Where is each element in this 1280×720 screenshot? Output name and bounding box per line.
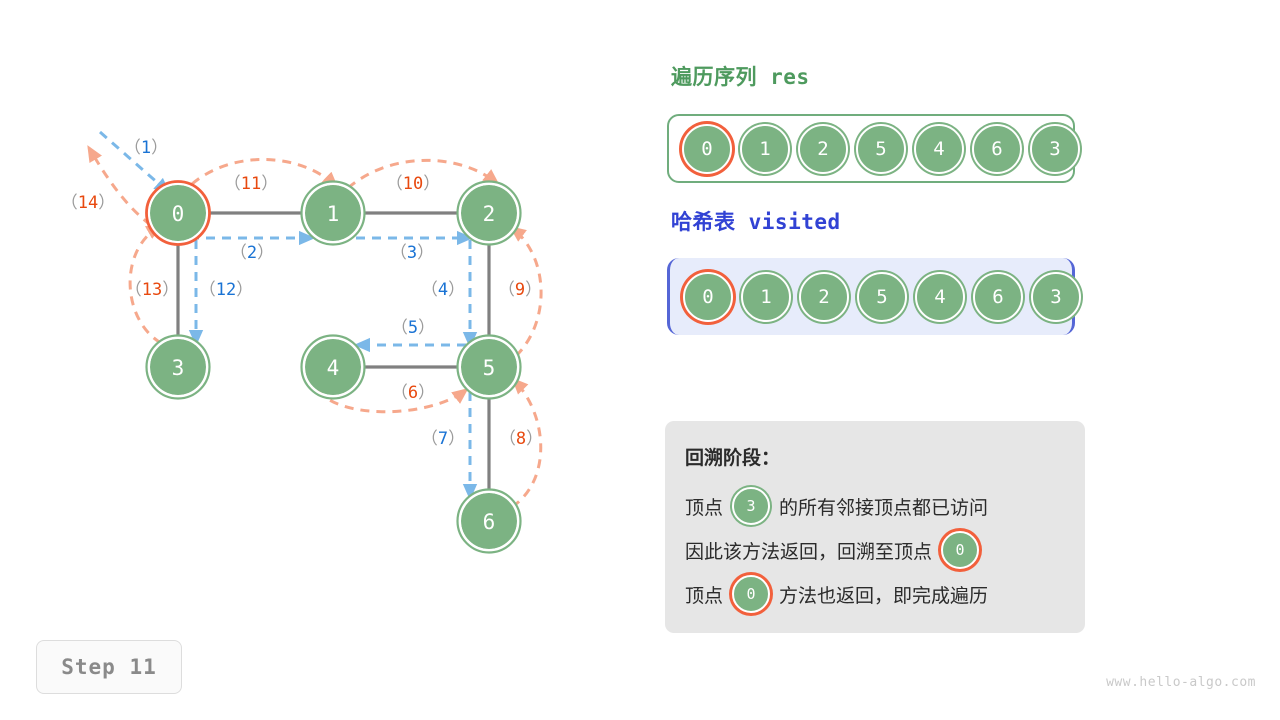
info-chip-vertex-0-b: 0: [732, 575, 770, 613]
visited-item-label: 1: [760, 286, 771, 308]
res-item-label: 1: [759, 138, 770, 160]
res-section-title: 遍历序列 res: [671, 61, 810, 91]
step-label-9: （9）: [498, 280, 542, 300]
info-line-3: 顶点 0 方法也返回，即完成遍历: [685, 572, 1085, 616]
right-panel: 遍历序列 res 0 1 2 5 4 6 3 哈希表 visited 0 1 2…: [665, 0, 1280, 720]
info-line-1-text-a: 顶点: [685, 493, 723, 520]
graph-node-5[interactable]: 5: [458, 336, 521, 399]
visited-item[interactable]: 1: [741, 272, 791, 322]
visited-item[interactable]: 4: [915, 272, 965, 322]
step-label-12: （12）: [199, 280, 253, 300]
step-label-14: （14）: [61, 193, 115, 213]
step-label-11: （11）: [224, 174, 278, 194]
res-item-label: 2: [817, 138, 828, 160]
graph-node-0-label: 0: [172, 202, 185, 226]
info-line-2: 因此该方法返回，回溯至顶点 0: [685, 528, 1085, 572]
info-chip-vertex-3-label: 3: [747, 497, 756, 515]
info-line-1-text-b: 的所有邻接顶点都已访问: [779, 493, 988, 520]
graph-node-1-label: 1: [327, 202, 340, 226]
visited-section-title: 哈希表 visited: [671, 206, 841, 236]
step-label-5: （5）: [391, 318, 435, 338]
graph-node-3[interactable]: 3: [147, 336, 210, 399]
step-label-6: （6）: [391, 383, 435, 403]
graph-node-2-label: 2: [483, 202, 496, 226]
info-chip-vertex-3: 3: [732, 487, 770, 525]
visited-item[interactable]: 5: [857, 272, 907, 322]
res-item[interactable]: 2: [798, 124, 848, 174]
watermark: www.hello-algo.com: [1106, 675, 1256, 690]
step-label-3: （3）: [390, 243, 434, 263]
info-chip-vertex-0-a-label: 0: [956, 541, 965, 559]
res-item-label: 6: [991, 138, 1002, 160]
visited-item[interactable]: 2: [799, 272, 849, 322]
graph-node-2[interactable]: 2: [458, 182, 521, 245]
visited-item-label: 5: [876, 286, 887, 308]
res-item[interactable]: 0: [682, 124, 732, 174]
info-line-1: 顶点 3 的所有邻接顶点都已访问: [685, 484, 1085, 528]
res-item-label: 0: [701, 138, 712, 160]
visited-table: 0 1 2 5 4 6 3: [667, 258, 1075, 335]
step-label-13: （13）: [125, 280, 179, 300]
info-heading: 回溯阶段：: [685, 443, 1085, 470]
graph-node-3-label: 3: [172, 356, 185, 380]
info-line-3-text-b: 方法也返回，即完成遍历: [779, 581, 988, 608]
res-item[interactable]: 1: [740, 124, 790, 174]
graph-diagram: 0 1 2 3: [0, 0, 640, 720]
visited-item[interactable]: 3: [1031, 272, 1081, 322]
graph-node-5-label: 5: [483, 356, 496, 380]
info-chip-vertex-0-b-label: 0: [747, 585, 756, 603]
info-box: 回溯阶段： 顶点 3 的所有邻接顶点都已访问 因此该方法返回，回溯至顶点 0 顶…: [665, 421, 1085, 633]
graph-node-0[interactable]: 0: [147, 182, 210, 245]
info-line-3-text-a: 顶点: [685, 581, 723, 608]
step-label-8: （8）: [499, 429, 543, 449]
graph-node-1[interactable]: 1: [302, 182, 365, 245]
res-item[interactable]: 5: [856, 124, 906, 174]
step-label-10: （10）: [386, 174, 440, 194]
step-label-4: （4）: [421, 280, 465, 300]
res-item-label: 3: [1049, 138, 1060, 160]
info-chip-vertex-0-a: 0: [941, 531, 979, 569]
res-item-label: 5: [875, 138, 886, 160]
graph-node-6[interactable]: 6: [458, 490, 521, 553]
step-label-1: （1）: [124, 138, 168, 158]
res-item[interactable]: 3: [1030, 124, 1080, 174]
res-item[interactable]: 6: [972, 124, 1022, 174]
res-item[interactable]: 4: [914, 124, 964, 174]
step-label-7: （7）: [421, 429, 465, 449]
info-line-2-text-a: 因此该方法返回，回溯至顶点: [685, 537, 932, 564]
graph-node-6-label: 6: [483, 510, 496, 534]
res-item-label: 4: [933, 138, 944, 160]
visited-item[interactable]: 6: [973, 272, 1023, 322]
visited-item-label: 4: [934, 286, 945, 308]
graph-node-4[interactable]: 4: [302, 336, 365, 399]
graph-panel: 0 1 2 3: [0, 0, 640, 720]
step-label-2: （2）: [230, 243, 274, 263]
step-badge: Step 11: [36, 640, 182, 694]
visited-item-label: 0: [702, 286, 713, 308]
visited-item-label: 6: [992, 286, 1003, 308]
visited-item-label: 2: [818, 286, 829, 308]
visited-item[interactable]: 0: [683, 272, 733, 322]
res-array: 0 1 2 5 4 6 3: [667, 114, 1075, 183]
graph-nodes: 0 1 2 3: [147, 182, 521, 553]
visited-item-label: 3: [1050, 286, 1061, 308]
graph-node-4-label: 4: [327, 356, 340, 380]
